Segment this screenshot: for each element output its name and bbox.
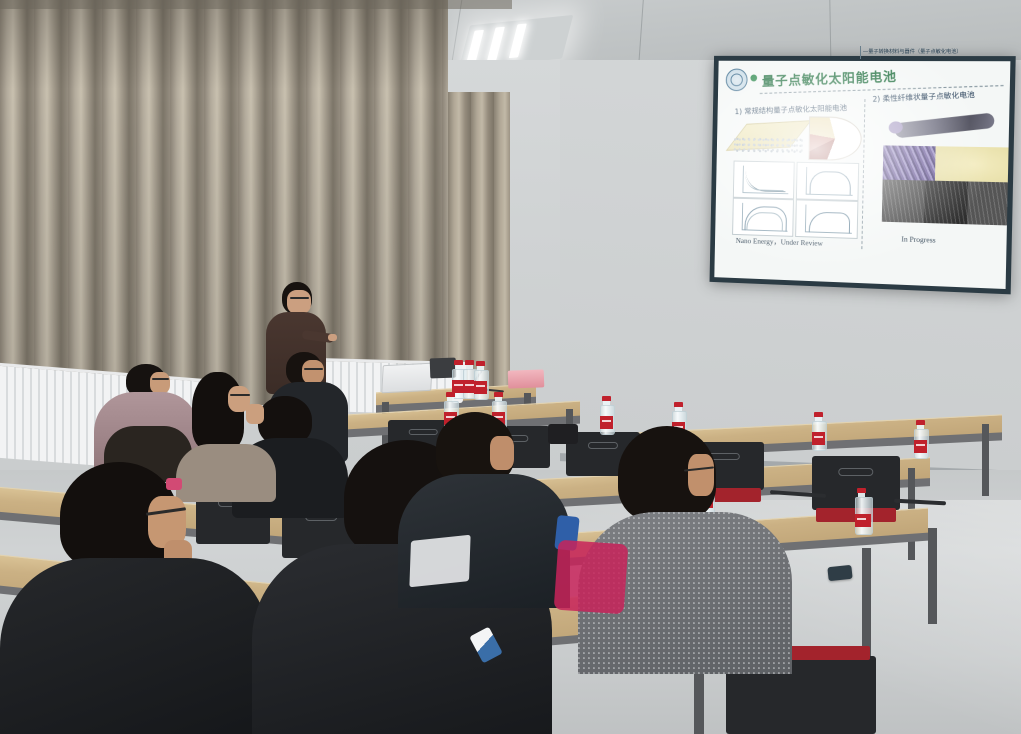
- window-curtain-left[interactable]: [0, 0, 448, 405]
- panel-divider: [861, 99, 865, 249]
- university-seal-logo: [726, 69, 748, 92]
- slide-title: 量子点敏化太阳能电池: [762, 63, 975, 90]
- bag-on-chair: [548, 424, 578, 444]
- table-leg: [982, 424, 989, 496]
- pink-storage-box[interactable]: [508, 369, 545, 388]
- panel-1-caption: Nano Energy，Under Review: [736, 235, 823, 249]
- hand-on-chin: [246, 404, 264, 424]
- title-bullet-icon: [750, 74, 757, 81]
- sem-micrograph-panel: [882, 180, 1011, 226]
- slide-header-text: —量子转换材料与器件（量子点敏化电池）: [860, 46, 998, 59]
- jv-curve-plot-1: [733, 161, 795, 200]
- nanoparticle-layer-diagram: [734, 137, 803, 154]
- projection-screen: 量子点敏化太阳能电池 1) 常规结构量子点敏化太阳能电池 2) 柔性纤维状量子点…: [710, 56, 1016, 294]
- panel-2-heading: 2) 柔性纤维状量子点敏化电池: [872, 89, 975, 105]
- panel-2-caption: In Progress: [901, 234, 935, 244]
- pink-pen: [166, 478, 182, 490]
- panel-1-heading: 1) 常规结构量子点敏化太阳能电池: [735, 102, 848, 117]
- fiber-bundle-image: [883, 145, 936, 180]
- table-leg: [862, 548, 871, 658]
- lecture-room-photo: 量子点敏化太阳能电池 1) 常规结构量子点敏化太阳能电池 2) 柔性纤维状量子点…: [0, 0, 1021, 734]
- absorbance-plot-1: [732, 198, 794, 237]
- eqe-plot-1: [796, 162, 859, 201]
- spectrum-plot-1: [795, 199, 858, 239]
- presentation-slide: 量子点敏化太阳能电池 1) 常规结构量子点敏化太阳能电池 2) 柔性纤维状量子点…: [714, 61, 1010, 289]
- window-curtain-right[interactable]: [448, 92, 510, 392]
- curtain-rod: [0, 0, 512, 9]
- attendee-front-left: [0, 462, 280, 734]
- core-shell-diagram: [808, 116, 862, 161]
- table-leg: [928, 528, 937, 624]
- fiber-schematic-image: [935, 146, 1010, 182]
- laptop-open: [409, 535, 470, 588]
- laptop[interactable]: [381, 363, 432, 394]
- smartphone-on-desk[interactable]: [827, 565, 852, 581]
- fiber-electrode-diagram: [886, 107, 999, 143]
- pointing-hand: [328, 334, 337, 341]
- red-garment: [554, 540, 629, 615]
